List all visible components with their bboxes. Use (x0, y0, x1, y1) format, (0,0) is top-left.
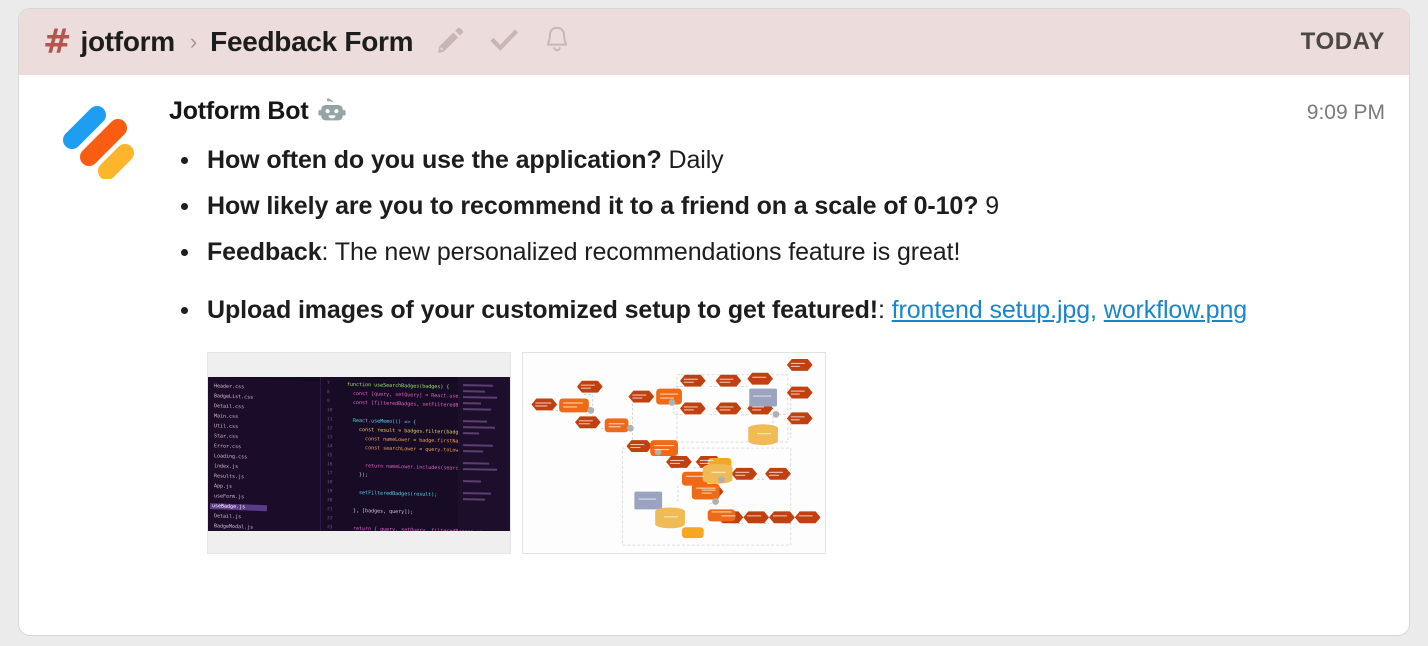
check-icon[interactable] (489, 25, 519, 60)
answer-list: How often do you use the application? Da… (169, 138, 1385, 332)
chevron-right-icon: › (190, 31, 197, 53)
minimap (458, 377, 510, 531)
message-card: # jotform › Feedback Form (18, 8, 1410, 636)
screenshot-root: # jotform › Feedback Form (0, 0, 1428, 646)
breadcrumb-workspace[interactable]: jotform (81, 26, 175, 58)
list-item: Feedback: The new personalized recommend… (169, 230, 1385, 274)
question-label: Upload images of your customized setup t… (207, 296, 878, 324)
question-label: How often do you use the application? (207, 146, 662, 174)
hash-icon: # (43, 25, 71, 59)
list-item-attachments: Upload images of your customized setup t… (169, 288, 1385, 332)
answer-value: Daily (662, 146, 724, 174)
message-content: Jotform Bot (135, 97, 1385, 554)
today-label: TODAY (1301, 28, 1385, 56)
link-separator: , (1090, 296, 1104, 324)
bell-icon[interactable] (543, 25, 571, 60)
answer-value: : (878, 296, 892, 324)
page-title: Feedback Form (210, 26, 413, 58)
answer-value: : The new personalized recommendations f… (322, 238, 961, 266)
attachment-link-2[interactable]: workflow.png (1104, 296, 1247, 324)
question-label: Feedback (207, 238, 322, 266)
attachment-link-1[interactable]: frontend setup.jpg (892, 296, 1090, 324)
robot-emoji (318, 98, 346, 126)
attachment-thumbnail-frontend-setup[interactable]: Header.css BadgeList.css Detail.css Main… (207, 352, 511, 554)
card-header: # jotform › Feedback Form (19, 9, 1409, 75)
avatar[interactable] (59, 103, 135, 179)
header-icon-group (435, 25, 571, 60)
code-editor-preview: Header.css BadgeList.css Detail.css Main… (208, 377, 510, 531)
message-header: Jotform Bot (169, 97, 1385, 126)
message-body: Jotform Bot (19, 75, 1409, 554)
code-lines: 7 function useSearchBadges(badges) { 8 c… (320, 377, 458, 531)
list-item: How likely are you to recommend it to a … (169, 184, 1385, 228)
sender-name[interactable]: Jotform Bot (169, 97, 308, 126)
pencil-icon[interactable] (435, 25, 465, 60)
question-label: How likely are you to recommend it to a … (207, 192, 978, 220)
file-sidebar: Header.css BadgeList.css Detail.css Main… (208, 377, 320, 531)
flowchart-preview (523, 353, 825, 553)
list-item: How often do you use the application? Da… (169, 138, 1385, 182)
answer-value: 9 (978, 192, 999, 220)
timestamp: 9:09 PM (1307, 101, 1385, 125)
attachment-thumbnails: Header.css BadgeList.css Detail.css Main… (169, 352, 1385, 554)
message-row: Jotform Bot (41, 97, 1385, 554)
attachment-thumbnail-workflow[interactable] (522, 352, 826, 554)
